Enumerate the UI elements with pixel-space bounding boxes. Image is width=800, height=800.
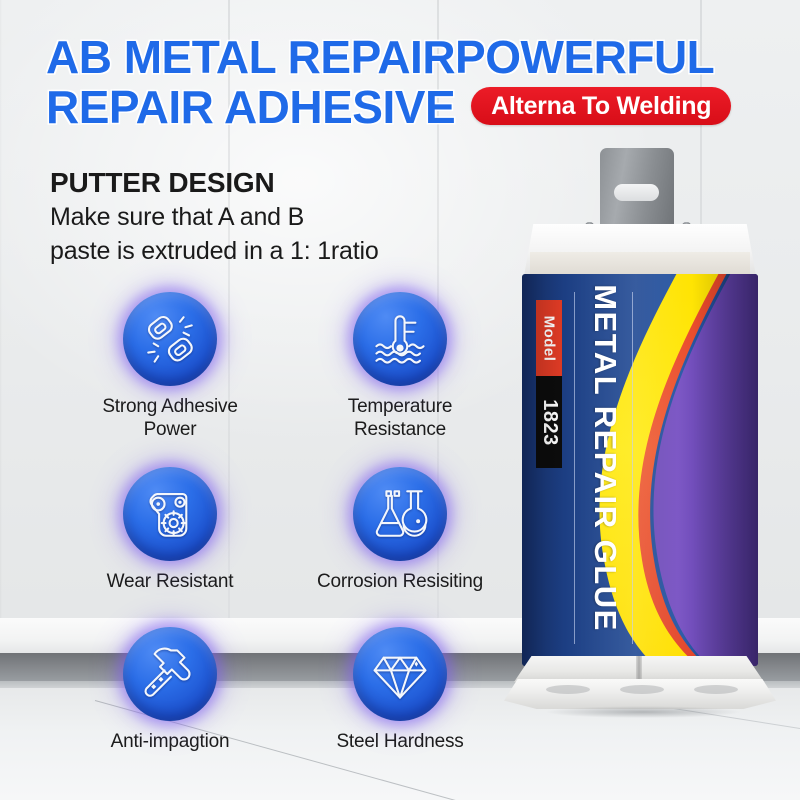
model-tag-text: Model [541,315,558,361]
base-notch [546,685,590,694]
feature-label-line-1: Anti-impagtion [111,730,230,753]
feature-row: Wear Resistant [60,467,500,627]
feature-label: Steel Hardness [336,730,463,753]
headline-block: AB METAL REPAIRPOWERFUL REPAIR ADHESIVE … [46,32,776,132]
feature-label: Strong Adhesive Power [102,395,237,441]
product-ground-shadow [514,704,772,720]
feature-label-line-1: Steel Hardness [336,730,463,753]
label-rule [632,292,633,644]
product-name-vertical: METAL REPAIR GLUE [580,290,630,646]
subheading-block: PUTTER DESIGN Make sure that A and B pas… [50,166,500,268]
feature-temperature-resistance: Temperature Resistance [280,292,500,467]
cartridge-body-label: Model 1823 METAL REPAIR GLUE [522,274,758,666]
putter-design-title: PUTTER DESIGN [50,166,500,200]
feature-corrosion-resisting: Corrosion Resisiting [280,467,500,627]
feature-grid: Strong Adhesive Power [60,292,500,787]
thermometer-water-icon [353,292,447,386]
headline-line-1: AB METAL REPAIRPOWERFUL [46,32,776,82]
feature-label: Wear Resistant [107,570,234,593]
model-number-text: 1823 [538,399,561,446]
feature-anti-impaction: Anti-impagtion [60,627,280,787]
feature-wear-resistant: Wear Resistant [60,467,280,627]
plunger-slot [614,184,659,201]
feature-row: Anti-impagtion Steel Hardness [60,627,500,787]
feature-label-line-1: Wear Resistant [107,570,234,593]
instruction-line-1: Make sure that A and B [50,200,500,234]
feature-label-line-2: Power [102,418,237,441]
headline-line-2: REPAIR ADHESIVE [46,82,455,132]
product-name-text: METAL REPAIR GLUE [587,284,623,632]
diamond-icon [353,627,447,721]
base-notch [620,685,664,694]
feature-label: Temperature Resistance [348,395,452,441]
feature-row: Strong Adhesive Power [60,292,500,467]
model-tag: Model [536,300,562,376]
feature-steel-hardness: Steel Hardness [280,627,500,787]
feature-label-line-1: Corrosion Resisiting [317,570,483,593]
model-number-tag: 1823 [536,376,562,468]
base-notch [694,685,738,694]
glue-cartridge-product: Model 1823 METAL REPAIR GLUE [508,148,776,728]
hammer-icon [123,627,217,721]
label-rule [574,292,575,644]
feature-label-line-2: Resistance [348,418,452,441]
headline-row-2: REPAIR ADHESIVE Alterna To Welding [46,82,776,132]
broken-chain-link-icon [123,292,217,386]
lab-flasks-icon [353,467,447,561]
feature-label: Corrosion Resisiting [317,570,483,593]
alternative-to-welding-badge: Alterna To Welding [471,87,731,125]
feature-label-line-1: Strong Adhesive [102,395,237,418]
product-advertisement-poster: AB METAL REPAIRPOWERFUL REPAIR ADHESIVE … [0,0,800,800]
belt-pulley-gear-icon [123,467,217,561]
feature-label: Anti-impagtion [111,730,230,753]
instruction-line-2: paste is extruded in a 1: 1ratio [50,234,500,268]
feature-label-line-1: Temperature [348,395,452,418]
feature-strong-adhesive-power: Strong Adhesive Power [60,292,280,467]
